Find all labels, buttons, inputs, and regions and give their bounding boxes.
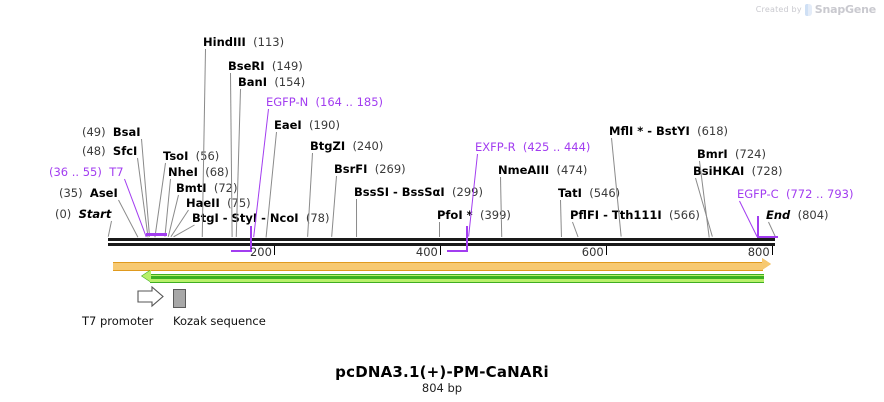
annotation-name: NmeAIII xyxy=(498,163,549,177)
annotation-position: (49) xyxy=(82,125,106,139)
annotation-label[interactable]: BssSI - BssSαI (299) xyxy=(354,186,483,198)
feature-bracket-exfp-r-horz xyxy=(447,250,468,252)
feature-bracket-egfp-c-horz xyxy=(757,236,778,238)
annotation-label[interactable]: HindIII (113) xyxy=(203,36,284,48)
annotation-label[interactable]: BsrFI (269) xyxy=(334,163,406,175)
kozak-sequence-box-icon xyxy=(173,289,186,308)
annotation-position: (728) xyxy=(752,164,783,178)
annotation-position: (35) xyxy=(59,186,83,200)
annotation-position: (190) xyxy=(309,118,340,132)
annotation-position: (269) xyxy=(375,162,406,176)
annotation-position: (72) xyxy=(214,181,238,195)
annotation-leader-line xyxy=(356,199,357,237)
feature-bar-t7 xyxy=(146,233,167,236)
ruler-tick xyxy=(440,246,441,255)
annotation-position: (425 .. 444) xyxy=(523,140,591,154)
annotation-name: EaeI xyxy=(274,118,302,132)
annotation-name: BsaI xyxy=(113,125,141,139)
legend-label-t7-promoter: T7 promoter xyxy=(82,314,153,328)
page-subtitle: 804 bp xyxy=(0,381,884,395)
annotation-name: BtgZI xyxy=(310,139,345,153)
annotation-label[interactable]: NmeAIII (474) xyxy=(498,164,587,176)
annotation-name: EXFP-R xyxy=(475,140,516,154)
annotation-position: (36 .. 55) xyxy=(49,165,102,179)
annotation-name: EGFP-N xyxy=(266,95,308,109)
annotation-label[interactable]: BsiHKAI (728) xyxy=(693,165,783,177)
annotation-leader-line xyxy=(230,73,233,237)
map-backbone-upper xyxy=(108,238,775,241)
map-backbone-lower xyxy=(108,243,775,246)
annotation-name: SfcI xyxy=(113,144,137,158)
annotation-leader-line xyxy=(739,201,758,237)
plasmid-map-canvas: Created by SnapGene (0) Start(35) AseI(3… xyxy=(0,0,884,402)
annotation-label[interactable]: EGFP-C (772 .. 793) xyxy=(737,188,853,200)
ruler-tick xyxy=(274,246,275,255)
annotation-name: PflFI - Tth111I xyxy=(570,208,662,222)
t7-promoter-arrow-svg xyxy=(137,286,165,308)
annotation-label[interactable]: MflI * - BstYI (618) xyxy=(609,125,728,137)
ruler-label: 800 xyxy=(746,245,770,259)
annotation-name: Start xyxy=(79,207,112,221)
annotation-leader-line xyxy=(560,200,562,237)
ruler-tick xyxy=(606,246,607,255)
watermark-prefix: Created by xyxy=(756,5,802,14)
annotation-label[interactable]: (35) AseI xyxy=(59,187,118,199)
annotation-name: End xyxy=(766,208,790,222)
watermark-brand: SnapGene xyxy=(815,3,876,16)
annotation-position: (618) xyxy=(697,124,728,138)
t7-promoter-arrow-icon xyxy=(137,286,165,312)
feature-bracket-egfp-c-vert xyxy=(757,216,759,238)
annotation-label[interactable]: BanI (154) xyxy=(238,76,305,88)
annotation-name: HindIII xyxy=(203,35,246,49)
annotation-label[interactable]: BtgZI (240) xyxy=(310,140,383,152)
annotation-name: MflI * - BstYI xyxy=(609,124,690,138)
annotation-name: T7 xyxy=(109,165,123,179)
annotation-position: (772 .. 793) xyxy=(786,187,854,201)
annotation-name: TsoI xyxy=(163,149,188,163)
annotation-position: (68) xyxy=(205,165,229,179)
annotation-leader-line xyxy=(108,221,112,237)
annotation-name: BanI xyxy=(238,75,267,89)
annotation-name: EGFP-C xyxy=(737,187,779,201)
annotation-position: (474) xyxy=(556,163,587,177)
annotation-label[interactable]: BseRI (149) xyxy=(228,60,303,72)
annotation-name: PfoI * xyxy=(437,208,473,222)
annotation-name: BmrI xyxy=(697,147,728,161)
annotation-name: NheI xyxy=(168,165,198,179)
annotation-position: (0) xyxy=(55,207,71,221)
annotation-name: BseRI xyxy=(228,59,265,73)
annotation-label[interactable]: BmtI (72) xyxy=(176,182,237,194)
annotation-label[interactable]: (0) Start xyxy=(55,208,111,220)
ruler-tick xyxy=(772,246,773,255)
annotation-label[interactable]: TsoI (56) xyxy=(163,150,219,162)
annotation-leader-line xyxy=(572,222,578,237)
annotation-leader-line xyxy=(439,222,440,237)
annotation-position: (724) xyxy=(735,147,766,161)
annotation-leader-line xyxy=(331,176,337,237)
annotation-position: (56) xyxy=(196,149,220,163)
annotation-position: (154) xyxy=(274,75,305,89)
annotation-position: (804) xyxy=(798,208,829,222)
annotation-name: AseI xyxy=(90,186,118,200)
annotation-label[interactable]: EaeI (190) xyxy=(274,119,340,131)
annotation-label[interactable]: HaeII (75) xyxy=(186,197,251,209)
annotation-position: (48) xyxy=(82,144,106,158)
annotation-name: BsrFI xyxy=(334,162,367,176)
snapgene-watermark: Created by SnapGene xyxy=(756,3,876,16)
annotation-name: BssSI - BssSαI xyxy=(354,185,445,199)
feature-bracket-exfp-r-vert xyxy=(466,226,468,252)
page-title: pcDNA3.1(+)-PM-CaNARi xyxy=(0,363,884,381)
annotation-position: (113) xyxy=(253,35,284,49)
annotation-label[interactable]: EGFP-N (164 .. 185) xyxy=(266,96,383,108)
annotation-label[interactable]: (36 .. 55) T7 xyxy=(49,166,124,178)
ruler-label: 600 xyxy=(580,245,604,259)
annotation-label[interactable]: NheI (68) xyxy=(168,166,229,178)
annotation-label[interactable]: (48) SfcI xyxy=(82,145,137,157)
ruler-label: 200 xyxy=(248,245,272,259)
legend-label-kozak: Kozak sequence xyxy=(173,314,266,328)
annotation-position: (566) xyxy=(669,208,700,222)
annotation-label[interactable]: PflFI - Tth111I (566) xyxy=(570,209,700,221)
annotation-leader-line xyxy=(154,163,166,237)
annotation-position: (164 .. 185) xyxy=(316,95,384,109)
annotation-position: (299) xyxy=(452,185,483,199)
annotation-label[interactable]: End (804) xyxy=(766,209,829,221)
annotation-name: BtgI - StyI - NcoI xyxy=(192,211,299,225)
annotation-leader-line xyxy=(500,177,502,237)
annotation-label[interactable]: (49) BsaI xyxy=(82,126,141,138)
annotation-name: TatI xyxy=(558,186,582,200)
ruler-label: 400 xyxy=(414,245,438,259)
annotation-label[interactable]: EXFP-R (425 .. 444) xyxy=(475,141,590,153)
annotation-label[interactable]: BmrI (724) xyxy=(697,148,766,160)
snapgene-logo-icon xyxy=(805,4,812,16)
annotation-position: (399) xyxy=(480,208,511,222)
annotation-position: (240) xyxy=(352,139,383,153)
annotation-position: (149) xyxy=(272,59,303,73)
annotation-leader-line xyxy=(768,222,776,237)
annotation-label[interactable]: TatI (546) xyxy=(558,187,620,199)
